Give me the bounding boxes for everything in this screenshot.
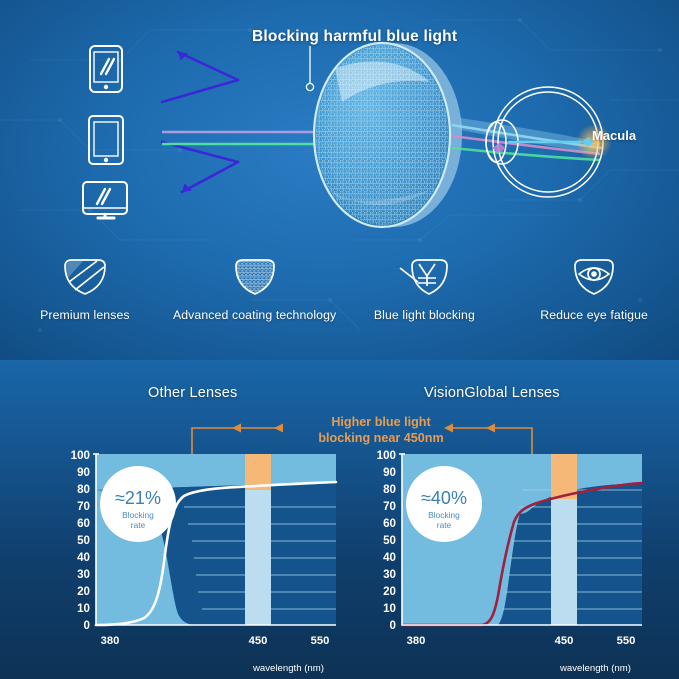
annotation-line-1: Higher blue light: [286, 414, 476, 430]
blocking-rate-badge-right: ≈40% Blocking rate: [406, 466, 482, 542]
blue-light-block-icon: [396, 252, 452, 298]
feature-label: Reduce eye fatigue: [538, 308, 650, 323]
svg-text:50: 50: [77, 534, 90, 547]
svg-text:≈21%: ≈21%: [115, 488, 161, 508]
svg-text:550: 550: [311, 635, 330, 647]
premium-lens-icon: [59, 252, 111, 298]
svg-text:30: 30: [383, 568, 396, 581]
svg-text:10: 10: [77, 602, 90, 615]
svg-text:380: 380: [101, 635, 120, 647]
tablet-icon: [84, 114, 128, 166]
svg-text:rate: rate: [437, 520, 452, 530]
svg-text:10: 10: [383, 602, 396, 615]
chart-other-lenses: 1009080 706050 403020 100 ≈21%: [56, 446, 346, 661]
feature-advanced-coating: Advanced coating technology: [170, 252, 340, 352]
feature-blue-light-blocking: Blue light blocking: [340, 252, 510, 352]
infographic-root: Blocking harmful blue light: [0, 0, 679, 679]
macula-label: Macula: [592, 128, 636, 143]
feature-label: Advanced coating technology: [171, 308, 338, 323]
blocking-rate-badge-left: ≈21% Blocking rate: [100, 466, 176, 542]
svg-text:60: 60: [383, 517, 396, 530]
smartphone-icon: [84, 44, 128, 94]
svg-text:90: 90: [383, 466, 396, 479]
svg-text:30: 30: [77, 568, 90, 581]
eye-icon: [568, 252, 620, 298]
svg-text:100: 100: [71, 449, 90, 462]
svg-text:20: 20: [77, 585, 90, 598]
svg-text:450: 450: [555, 635, 574, 647]
svg-text:70: 70: [77, 500, 90, 513]
svg-text:Blocking: Blocking: [428, 510, 460, 520]
svg-text:380: 380: [407, 635, 426, 647]
svg-text:0: 0: [390, 619, 396, 632]
features-row: Premium lenses Advanced coating technolo…: [0, 252, 679, 352]
svg-text:Blocking: Blocking: [122, 510, 154, 520]
chart-title-right: VisionGlobal Lenses: [424, 385, 560, 401]
svg-text:100: 100: [377, 449, 396, 462]
svg-text:rate: rate: [131, 520, 146, 530]
svg-text:40: 40: [77, 551, 90, 564]
svg-text:70: 70: [383, 500, 396, 513]
feature-reduce-eye-fatigue: Reduce eye fatigue: [509, 252, 679, 352]
feature-label: Blue light blocking: [372, 308, 477, 323]
svg-text:80: 80: [77, 483, 90, 496]
svg-text:50: 50: [383, 534, 396, 547]
feature-premium-lenses: Premium lenses: [0, 252, 170, 352]
svg-text:40: 40: [383, 551, 396, 564]
annotation-line-2: blocking near 450nm: [286, 430, 476, 446]
x-axis-label-left: wavelength (nm): [253, 663, 324, 674]
chart-visionglobal-lenses: 1009080 706050 403020 100: [362, 446, 652, 661]
coating-mesh-icon: [229, 252, 281, 298]
svg-text:≈40%: ≈40%: [421, 488, 467, 508]
svg-text:20: 20: [383, 585, 396, 598]
svg-text:550: 550: [617, 635, 636, 647]
svg-text:0: 0: [84, 619, 90, 632]
svg-text:60: 60: [77, 517, 90, 530]
feature-label: Premium lenses: [38, 308, 132, 323]
svg-text:80: 80: [383, 483, 396, 496]
x-axis-label-right: wavelength (nm): [560, 663, 631, 674]
annotation-text: Higher blue light blocking near 450nm: [286, 414, 476, 446]
svg-text:450: 450: [249, 635, 268, 647]
monitor-icon: [80, 180, 132, 226]
svg-text:90: 90: [77, 466, 90, 479]
chart-title-left: Other Lenses: [148, 385, 237, 401]
